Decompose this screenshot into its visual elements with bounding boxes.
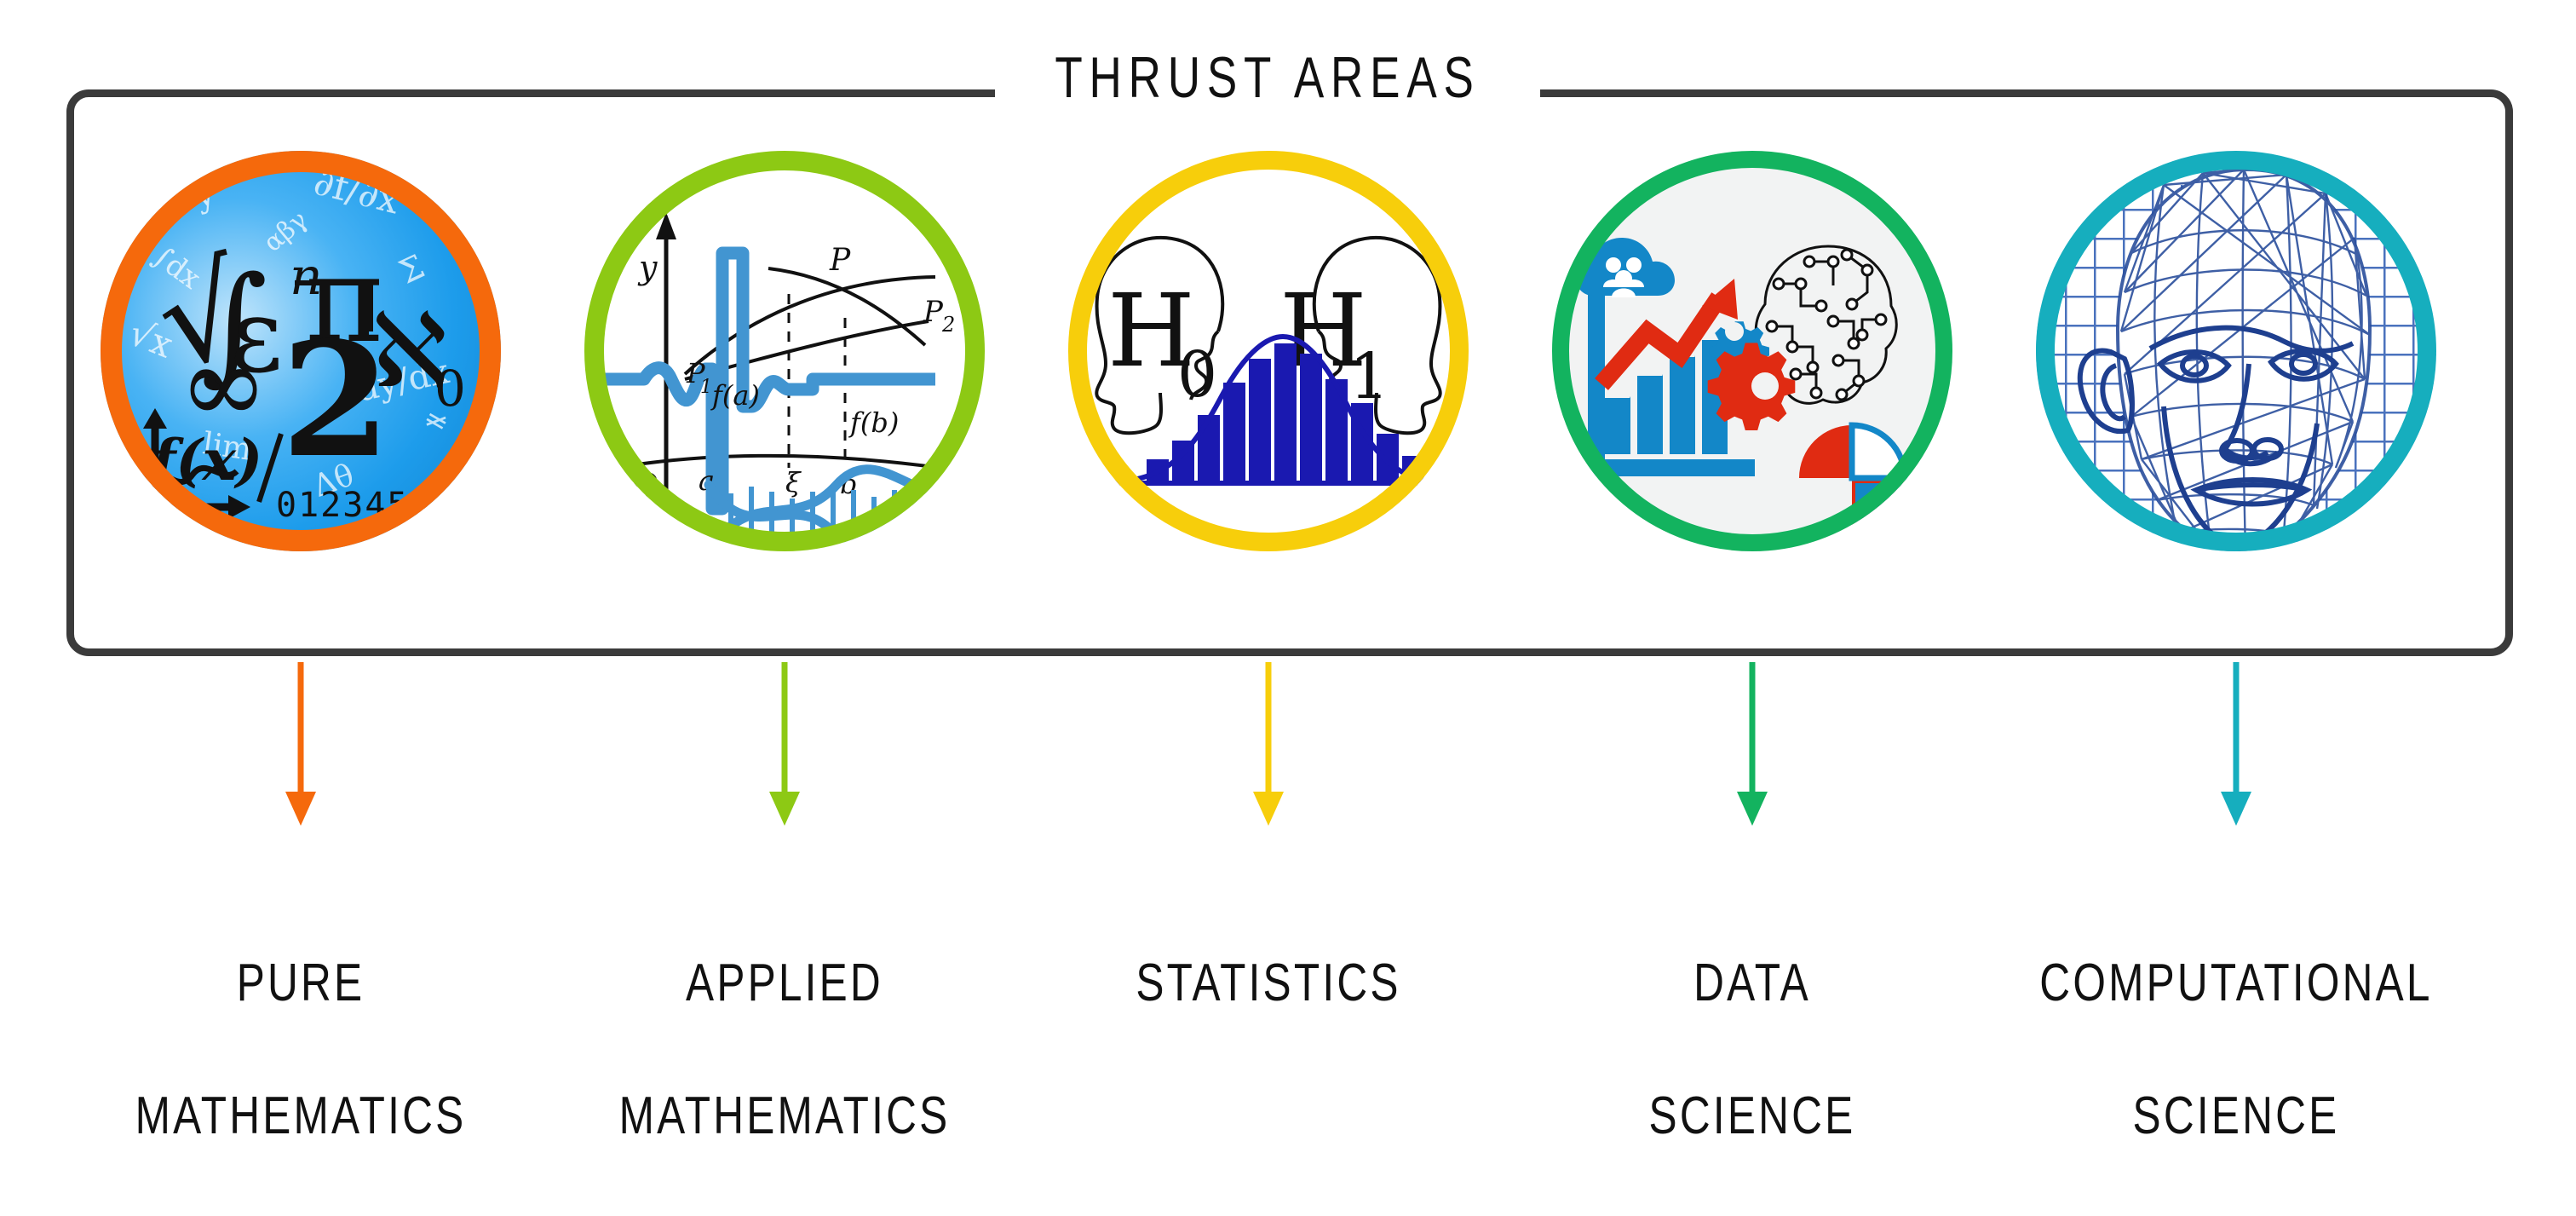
statistics-label: STATISTICS (996, 884, 1541, 1150)
statistics-ring (1068, 151, 1469, 551)
thrust-area-statistics[interactable]: H 0 H 1 (1068, 151, 1469, 594)
computational-science-ring (2036, 151, 2436, 551)
statistics-arrow (1251, 662, 1285, 833)
label-line-1: PURE (83, 950, 519, 1017)
applied-mathematics-arrow (768, 662, 802, 833)
thrust-area-computational-science[interactable]: COMPUTATIONAL SCIENCE (2036, 151, 2436, 594)
label-line-2: SCIENCE (2018, 1083, 2454, 1150)
pure-mathematics-arrow (284, 662, 318, 833)
pure-mathematics-ring (101, 151, 501, 551)
data-science-arrow (1735, 662, 1769, 833)
label-line-1: COMPUTATIONAL (2018, 950, 2454, 1017)
data-science-ring (1552, 151, 1952, 551)
label-line-2: MATHEMATICS (83, 1083, 519, 1150)
label-line-1: STATISTICS (1050, 950, 1486, 1017)
computational-science-arrow (2219, 662, 2253, 833)
thrust-area-applied-mathematics[interactable]: y O P P 2 P 1 f(a) f(b) a ξ b (584, 151, 985, 594)
label-line-1: APPLIED (566, 950, 1003, 1017)
label-line-2: SCIENCE (1534, 1083, 1970, 1150)
label-line-2: MATHEMATICS (566, 1083, 1003, 1150)
thrust-areas-diagram: THRUST AREAS x²+y² ∂f/∂x Σ √x dy/dx lim … (0, 0, 2576, 966)
thrust-area-data-science[interactable]: DATA SCIENCE (1552, 151, 1952, 594)
data-science-label: DATA SCIENCE (1480, 884, 2025, 1216)
thrust-areas-row: x²+y² ∂f/∂x Σ √x dy/dx lim Δθ ∫dx ≠ αβγ … (66, 89, 2513, 656)
pure-mathematics-label: PURE MATHEMATICS (28, 884, 573, 1216)
computational-science-label: COMPUTATIONAL SCIENCE (1964, 884, 2509, 1216)
thrust-area-pure-mathematics[interactable]: x²+y² ∂f/∂x Σ √x dy/dx lim Δθ ∫dx ≠ αβγ … (101, 151, 501, 594)
applied-mathematics-ring (584, 151, 985, 551)
label-line-1: DATA (1534, 950, 1970, 1017)
applied-mathematics-label: APPLIED MATHEMATICS (512, 884, 1057, 1216)
